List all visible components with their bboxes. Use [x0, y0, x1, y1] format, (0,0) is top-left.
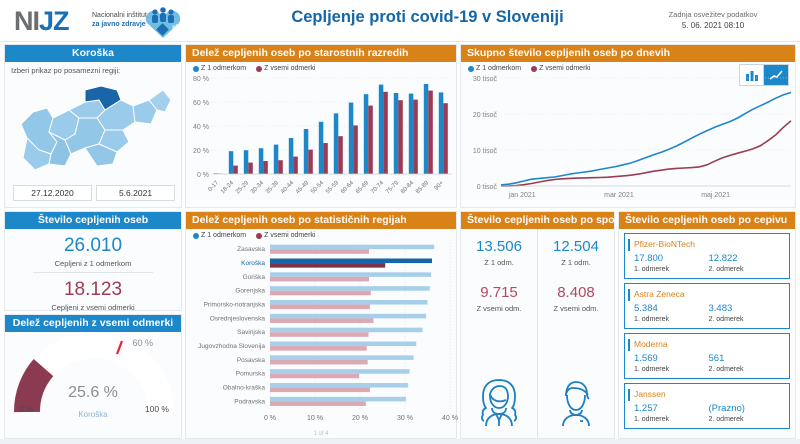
gender-column-male: 12.504 Z 1 odm. 8.408 Z vsemi odm. — [538, 229, 614, 438]
vaccine-first-dose-label: 1. odmerek — [634, 415, 709, 425]
vaccine-first-dose-cell: 5.3841. odmerek — [634, 303, 709, 325]
female-full-dose-label: Z vsemi odm. — [461, 303, 537, 315]
vaccine-name: Moderna — [634, 338, 783, 350]
legend-dot-red-icon — [256, 233, 262, 239]
svg-text:0 %: 0 % — [197, 172, 209, 179]
srco-heart-logo-icon: sRCO — [140, 4, 186, 40]
page-title: Cepljenje proti covid-19 v Sloveniji — [255, 8, 600, 27]
region-select-panel: Koroška Izberi prikaz po posamezni regij… — [4, 44, 182, 208]
date-to-button[interactable]: 5.6.2021 — [96, 185, 175, 201]
vaccine-second-dose-value: (Prazno) — [709, 403, 784, 415]
svg-text:Podravska: Podravska — [234, 398, 265, 405]
legend-first-dose: Z 1 odmerkom — [193, 65, 246, 72]
gauge-value: 25.6 % — [5, 384, 181, 402]
age-panel-title: Delež cepljenih oseb po starostnih razre… — [186, 45, 456, 62]
svg-text:Obalno-kraška: Obalno-kraška — [223, 385, 266, 392]
male-icon — [547, 374, 605, 432]
male-full-dose-label: Z vsemi odm. — [538, 303, 614, 315]
vaccine-card[interactable]: Moderna1.5691. odmerek5612. odmerek — [624, 333, 790, 379]
slovenia-map[interactable] — [13, 78, 175, 178]
svg-text:20 %: 20 % — [193, 148, 209, 155]
gender-grid: 13.506 Z 1 odm. 9.715 Z vsemi odm. — [461, 229, 614, 438]
vaccine-panel-title: Število cepljenih oseb po cepivu — [619, 212, 795, 229]
vaccine-first-dose-value: 1.569 — [634, 353, 709, 365]
legend-full-dose: Z vsemi odmerki — [256, 232, 315, 239]
pager-indicator[interactable]: 1 of 4 — [186, 431, 456, 437]
full-dose-count: 18.123 — [5, 273, 181, 302]
vaccine-name: Pfizer-BioNTech — [634, 238, 783, 250]
region-hint-text: Izberi prikaz po posamezni regiji: — [5, 62, 181, 75]
nijz-logo: NIJZ — [14, 8, 69, 35]
svg-text:85-89: 85-89 — [415, 180, 431, 196]
vaccine-dose-row: 17.8001. odmerek12.8222. odmerek — [634, 253, 783, 275]
legend-first-dose-label: Z 1 odmerkom — [476, 65, 521, 72]
date-range-row[interactable]: 27.12.2020 5.6.2021 — [13, 185, 175, 201]
vaccine-second-dose-label: 2. odmerek — [709, 415, 784, 425]
svg-text:20 %: 20 % — [352, 415, 368, 422]
vaccine-card[interactable]: Pfizer-BioNTech17.8001. odmerek12.8222. … — [624, 233, 790, 279]
svg-text:20 tisoč: 20 tisoč — [473, 112, 498, 119]
svg-text:35-39: 35-39 — [265, 180, 281, 196]
regions-chart-legend: Z 1 odmerkom Z vsemi odmerki — [186, 229, 456, 239]
vaccine-first-dose-cell: 1.5691. odmerek — [634, 353, 709, 375]
coverage-gauge-panel: Delež cepljenih z vsemi odmerki 60 % 25.… — [4, 314, 182, 439]
legend-dot-blue-icon — [193, 66, 199, 72]
vaccine-second-dose-value: 3.483 — [709, 303, 784, 315]
vaccine-second-dose-label: 2. odmerek — [709, 265, 784, 275]
svg-text:80-84: 80-84 — [400, 180, 416, 196]
svg-text:30 tisoč: 30 tisoč — [473, 76, 498, 83]
svg-text:50-54: 50-54 — [310, 180, 326, 196]
svg-text:Pomurska: Pomurska — [236, 371, 266, 378]
age-chart-panel: Delež cepljenih oseb po starostnih razre… — [185, 44, 457, 208]
gender-panel: Število cepljenih oseb po spolu 13.506 Z… — [460, 211, 615, 439]
age-chart-svg[interactable]: 0 %20 %40 %60 %80 %0-1718-2425-2930-3435… — [186, 72, 458, 206]
svg-text:Koroška: Koroška — [241, 260, 265, 267]
vaccine-second-dose-label: 2. odmerek — [709, 315, 784, 325]
gauge-target-label: 60 % — [132, 338, 153, 348]
last-refresh-label: Zadnja osvežitev podatkov — [638, 9, 788, 20]
svg-text:80 %: 80 % — [193, 76, 209, 83]
gauge-region-label: Koroška — [5, 410, 181, 419]
svg-text:70-74: 70-74 — [370, 180, 386, 196]
svg-text:30-34: 30-34 — [250, 180, 266, 196]
daily-panel-title: Skupno število cepljenih oseb po dnevih — [461, 45, 795, 62]
regions-chart-svg[interactable]: 0 %10 %20 %30 %40 %ZasavskaKoroškaGorišk… — [186, 239, 458, 435]
male-full-dose-value: 8.408 — [538, 283, 614, 303]
age-chart-canvas[interactable]: 0 %20 %40 %60 %80 %0-1718-2425-2930-3435… — [186, 72, 456, 205]
vaccine-first-dose-cell: 1.2571. odmerek — [634, 403, 709, 425]
female-first-dose-label: Z 1 odm. — [461, 257, 537, 269]
vaccine-first-dose-label: 1. odmerek — [634, 365, 709, 375]
vaccine-first-dose-value: 5.384 — [634, 303, 709, 315]
svg-text:25-29: 25-29 — [235, 180, 251, 196]
svg-text:maj 2021: maj 2021 — [701, 192, 730, 199]
app-header: NIJZ Nacionalni inštitut za javno zdravj… — [0, 0, 800, 42]
vaccine-second-dose-value: 561 — [709, 353, 784, 365]
region-panel-title: Koroška — [5, 45, 181, 62]
legend-first-dose: Z 1 odmerkom — [193, 232, 246, 239]
vaccine-second-dose-label: 2. odmerek — [709, 365, 784, 375]
svg-text:60 %: 60 % — [193, 100, 209, 107]
vaccine-second-dose-cell: 5612. odmerek — [709, 353, 784, 375]
svg-text:60-64: 60-64 — [340, 180, 356, 196]
vaccine-name: Janssen — [634, 388, 783, 400]
svg-text:Savinjska: Savinjska — [237, 329, 265, 336]
srco-logo-text: sRCO — [172, 25, 186, 31]
logo-ni-text: NI — [14, 6, 39, 36]
vaccine-dose-row: 1.2571. odmerek(Prazno)2. odmerek — [634, 403, 783, 425]
svg-text:45-49: 45-49 — [295, 180, 311, 196]
svg-text:18-24: 18-24 — [220, 180, 236, 196]
legend-full-dose-label: Z vsemi odmerki — [264, 65, 315, 72]
svg-text:Osrednjeslovenska: Osrednjeslovenska — [210, 315, 266, 322]
dashboard-root: NIJZ Nacionalni inštitut za javno zdravj… — [0, 0, 800, 444]
svg-text:jan 2021: jan 2021 — [508, 192, 536, 199]
gauge-widget: 60 % 25.6 % 0 % 100 % Koroška — [5, 332, 181, 438]
daily-chart-panel: Skupno število cepljenih oseb po dnevih … — [460, 44, 796, 208]
svg-text:10 tisoč: 10 tisoč — [473, 148, 498, 155]
vaccine-panel: Število cepljenih oseb po cepivu Pfizer-… — [618, 211, 796, 439]
legend-full-dose: Z vsemi odmerki — [531, 65, 590, 72]
vaccine-first-dose-value: 17.800 — [634, 253, 709, 265]
logo-subtitle-line2: za javno zdravje — [92, 21, 146, 28]
svg-text:65-69: 65-69 — [355, 180, 371, 196]
vaccine-card[interactable]: Astra Zeneca5.3841. odmerek3.4832. odmer… — [624, 283, 790, 329]
svg-text:0 %: 0 % — [264, 415, 276, 422]
vaccine-first-dose-label: 1. odmerek — [634, 315, 709, 325]
svg-text:90+: 90+ — [434, 180, 446, 192]
last-refresh: Zadnja osvežitev podatkov 5. 06. 2021 08… — [638, 9, 788, 32]
date-from-button[interactable]: 27.12.2020 — [13, 185, 92, 201]
first-dose-count-label: Cepljeni z 1 odmerkom — [5, 258, 181, 269]
regions-panel-title: Delež cepljenih oseb po statističnih reg… — [186, 212, 456, 229]
svg-text:40-44: 40-44 — [280, 180, 296, 196]
vaccine-second-dose-cell: (Prazno)2. odmerek — [709, 403, 784, 425]
slovenia-map-icon[interactable] — [13, 78, 175, 178]
legend-first-dose-label: Z 1 odmerkom — [201, 232, 246, 239]
svg-text:Gorenjska: Gorenjska — [235, 288, 265, 295]
svg-text:Zasavska: Zasavska — [237, 246, 265, 253]
legend-full-dose-label: Z vsemi odmerki — [539, 65, 590, 72]
svg-text:30 %: 30 % — [397, 415, 413, 422]
svg-text:55-59: 55-59 — [325, 180, 341, 196]
svg-text:Jugovzhodna Slovenija: Jugovzhodna Slovenija — [198, 343, 265, 350]
legend-dot-red-icon — [256, 66, 262, 72]
vaccine-first-dose-cell: 17.8001. odmerek — [634, 253, 709, 275]
svg-text:40 %: 40 % — [193, 124, 209, 131]
vaccine-name: Astra Zeneca — [634, 288, 783, 300]
male-first-dose-value: 12.504 — [538, 237, 614, 257]
gender-column-female: 13.506 Z 1 odm. 9.715 Z vsemi odm. — [461, 229, 538, 438]
vaccine-second-dose-cell: 3.4832. odmerek — [709, 303, 784, 325]
vaccine-second-dose-value: 12.822 — [709, 253, 784, 265]
svg-text:Goriška: Goriška — [243, 274, 266, 281]
regions-chart-panel: Delež cepljenih oseb po statističnih reg… — [185, 211, 457, 439]
legend-full-dose-label: Z vsemi odmerki — [264, 232, 315, 239]
first-dose-count: 26.010 — [5, 229, 181, 258]
svg-text:mar 2021: mar 2021 — [604, 192, 634, 199]
count-panel-title: Število cepljenih oseb — [5, 212, 181, 229]
svg-text:Posavska: Posavska — [237, 357, 266, 364]
daily-chart-svg[interactable]: 0 tisoč10 tisoč20 tisoč30 tisočjan 2021m… — [461, 72, 797, 206]
svg-text:10 %: 10 % — [307, 415, 323, 422]
legend-dot-blue-icon — [193, 233, 199, 239]
svg-text:Primorsko-notranjska: Primorsko-notranjska — [204, 302, 266, 309]
male-first-dose-label: Z 1 odm. — [538, 257, 614, 269]
female-icon — [470, 374, 528, 432]
regions-chart-canvas[interactable]: 0 %10 %20 %30 %40 %ZasavskaKoroškaGorišk… — [186, 239, 456, 436]
legend-dot-blue-icon — [468, 66, 474, 72]
legend-full-dose: Z vsemi odmerki — [256, 65, 315, 72]
vaccine-dose-row: 5.3841. odmerek3.4832. odmerek — [634, 303, 783, 325]
vaccine-dose-row: 1.5691. odmerek5612. odmerek — [634, 353, 783, 375]
logo-subtitle-line1: Nacionalni inštitut — [92, 11, 147, 20]
vaccine-first-dose-value: 1.257 — [634, 403, 709, 415]
gender-panel-title: Število cepljenih oseb po spolu — [461, 212, 614, 229]
legend-first-dose-label: Z 1 odmerkom — [201, 65, 246, 72]
legend-dot-red-icon — [531, 66, 537, 72]
age-chart-legend: Z 1 odmerkom Z vsemi odmerki — [186, 62, 456, 72]
daily-chart-canvas[interactable]: 0 tisoč10 tisoč20 tisoč30 tisočjan 2021m… — [461, 72, 795, 205]
gauge-panel-title: Delež cepljenih z vsemi odmerki — [5, 315, 181, 332]
legend-first-dose: Z 1 odmerkom — [468, 65, 521, 72]
footer-bar — [0, 439, 800, 444]
vaccine-card[interactable]: Janssen1.2571. odmerek(Prazno)2. odmerek — [624, 383, 790, 429]
female-first-dose-value: 13.506 — [461, 237, 537, 257]
vaccine-first-dose-label: 1. odmerek — [634, 265, 709, 275]
svg-text:75-79: 75-79 — [385, 180, 401, 196]
last-refresh-date: 5. 06. 2021 08:10 — [638, 20, 788, 32]
vaccine-list: Pfizer-BioNTech17.8001. odmerek12.8222. … — [619, 229, 795, 433]
logo-subtitle: Nacionalni inštitut za javno zdravje — [92, 11, 147, 29]
vaccinated-count-panel: Število cepljenih oseb 26.010 Cepljeni z… — [4, 211, 182, 311]
female-full-dose-value: 9.715 — [461, 283, 537, 303]
svg-text:40 %: 40 % — [442, 415, 458, 422]
logo-jz-text: JZ — [39, 6, 69, 36]
svg-text:0-17: 0-17 — [207, 180, 220, 193]
svg-text:0 tisoč: 0 tisoč — [477, 184, 498, 191]
full-dose-count-label: Cepljeni z vsemi odmerki — [5, 302, 181, 313]
vaccine-second-dose-cell: 12.8222. odmerek — [709, 253, 784, 275]
